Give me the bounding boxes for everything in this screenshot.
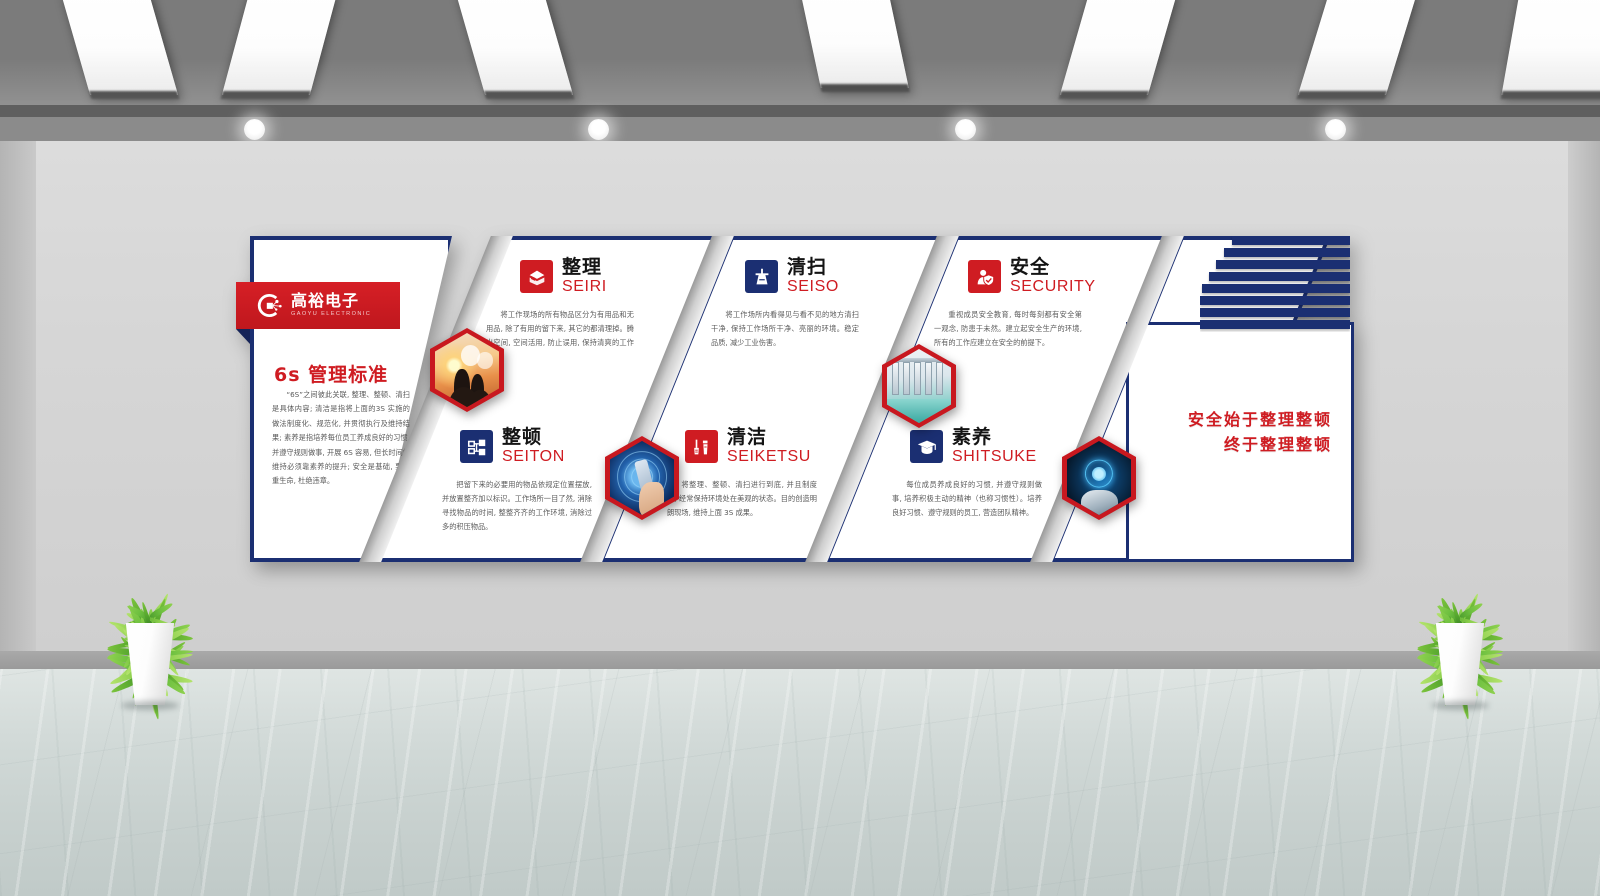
photo-highlight (477, 352, 492, 368)
section-body-seiketsu: 将整理、整顿、清扫进行到底, 并且制度化, 经常保持环境处在美观的状态。目的创造… (667, 478, 817, 520)
section-title-cn: 素养 (952, 428, 1037, 447)
section-title-cn: 整顿 (502, 428, 565, 447)
wall-right-edge (1568, 141, 1600, 651)
ceiling (0, 0, 1600, 105)
section-body-seiso: 将工作场所内看得见与看不见的地方清扫干净, 保持工作场所干净、亮丽的环境。稳定品… (711, 308, 859, 350)
safety-person-shield-icon (968, 260, 1001, 293)
stripe (1202, 284, 1350, 293)
section-body-seiri: 将工作现场的所有物品区分为有用品和无用品, 除了有用的留下来, 其它的都清理掉。… (486, 308, 634, 364)
hex-photo-sunset-teamwork[interactable] (430, 328, 504, 412)
section-body-shitsuke: 每位成员养成良好的习惯, 并遵守规则做事, 培养积极主动的精神（也称习惯性）。培… (892, 478, 1042, 520)
organize-grid-icon (460, 430, 493, 463)
slogan-line-2: 终于整理整顿 (1126, 433, 1332, 458)
section-titles: 安全 SECURITY (1010, 258, 1096, 295)
stripe (1216, 260, 1350, 269)
section-title-cn: 清扫 (787, 258, 839, 277)
section-titles: 整理 SEIRI (562, 258, 607, 295)
cleaning-tools-icon (685, 430, 718, 463)
section-head-seiri: 整理 SEIRI (520, 258, 607, 295)
broom-icon (745, 260, 778, 293)
board-main-title: 6s 管理标准 (274, 360, 388, 387)
photo-highlight (461, 345, 480, 366)
section-titles: 清扫 SEISO (787, 258, 839, 295)
ceiling-glow (0, 59, 1600, 105)
section-title-en: SEITON (502, 449, 565, 465)
section-body-security: 重视成员安全教育, 每时每刻都有安全第一观念, 防患于未然。建立起安全生产的环境… (934, 308, 1082, 350)
photo-machine (914, 362, 921, 395)
hex-photo-factory-line[interactable] (882, 344, 956, 428)
stripe (1200, 320, 1350, 329)
stripe (1224, 248, 1350, 257)
downlight (955, 119, 976, 140)
section-titles: 清洁 SEIKETSU (727, 428, 811, 465)
left-potted-palm (60, 545, 240, 705)
section-head-seiton: 整顿 SEITON (460, 428, 565, 465)
hex-photo-ai-robot[interactable] (1062, 436, 1136, 520)
section-head-shitsuke: 素养 SHITSUKE (910, 428, 1037, 465)
section-body-seiton: 把留下来的必要用的物品依规定位置摆放, 并放置整齐加以标识。工作场所一目了然, … (442, 478, 592, 534)
culture-wall-board: 高裕电子 GAOYU ELECTRONIC 6s 管理标准 “6S”之间彼此关联… (250, 236, 1350, 562)
section-head-security: 安全 SECURITY (968, 258, 1096, 295)
board-main-body: “6S”之间彼此关联, 整理、整顿、清扫是具体内容; 清洁是指将上面的3S 实施… (272, 388, 410, 489)
section-title-en: SECURITY (1010, 279, 1096, 295)
section-title-en: SEIRI (562, 279, 607, 295)
photo-iris-core (1092, 467, 1106, 481)
right-potted-palm (1370, 545, 1550, 705)
section-titles: 素养 SHITSUKE (952, 428, 1037, 465)
graduation-cap-icon (910, 430, 943, 463)
floor (0, 669, 1600, 896)
hex-photo-smart-device[interactable] (605, 436, 679, 520)
section-title-cn: 清洁 (727, 428, 811, 447)
ceiling-lower-band (0, 117, 1600, 141)
section-title-cn: 安全 (1010, 258, 1096, 277)
floor-veins (0, 669, 1600, 896)
ceiling-soffit (0, 105, 1600, 117)
sort-box-icon (520, 260, 553, 293)
board-shadow-layer: 高裕电子 GAOYU ELECTRONIC 6s 管理标准 “6S”之间彼此关联… (250, 236, 1350, 562)
section-title-cn: 整理 (562, 258, 607, 277)
logo-company-cn: 高裕电子 (291, 293, 371, 309)
photo-machine (925, 362, 932, 395)
decorative-stripes (1200, 236, 1350, 332)
wall-left-edge (0, 141, 36, 651)
downlight (1325, 119, 1346, 140)
logo-text: 高裕电子 GAOYU ELECTRONIC (291, 293, 371, 318)
photo-machine (892, 362, 899, 395)
section-head-seiketsu: 清洁 SEIKETSU (685, 428, 811, 465)
room-scene: 高裕电子 GAOYU ELECTRONIC 6s 管理标准 “6S”之间彼此关联… (0, 0, 1600, 896)
stripe (1200, 296, 1350, 305)
logo-company-en: GAOYU ELECTRONIC (291, 312, 371, 318)
gaoyu-logo-mark (256, 292, 283, 319)
section-title-en: SEIKETSU (727, 449, 811, 465)
slogan-line-1: 安全始于整理整顿 (1126, 408, 1332, 433)
company-logo: 高裕电子 GAOYU ELECTRONIC (236, 282, 400, 329)
downlight (244, 119, 265, 140)
photo-machine (903, 362, 910, 395)
photo-machine (936, 362, 943, 395)
section-head-seiso: 清扫 SEISO (745, 258, 839, 295)
downlight (588, 119, 609, 140)
stripe (1232, 236, 1350, 245)
stripe (1200, 308, 1350, 317)
section-title-en: SEISO (787, 279, 839, 295)
section-titles: 整顿 SEITON (502, 428, 565, 465)
slogan-block: 安全始于整理整顿 终于整理整顿 (1126, 408, 1332, 458)
plant-pot-shadow (1431, 701, 1489, 710)
plant-pot-shadow (121, 701, 179, 710)
section-title-en: SHITSUKE (952, 449, 1037, 465)
baseboard (0, 651, 1600, 669)
stripe (1209, 272, 1350, 281)
